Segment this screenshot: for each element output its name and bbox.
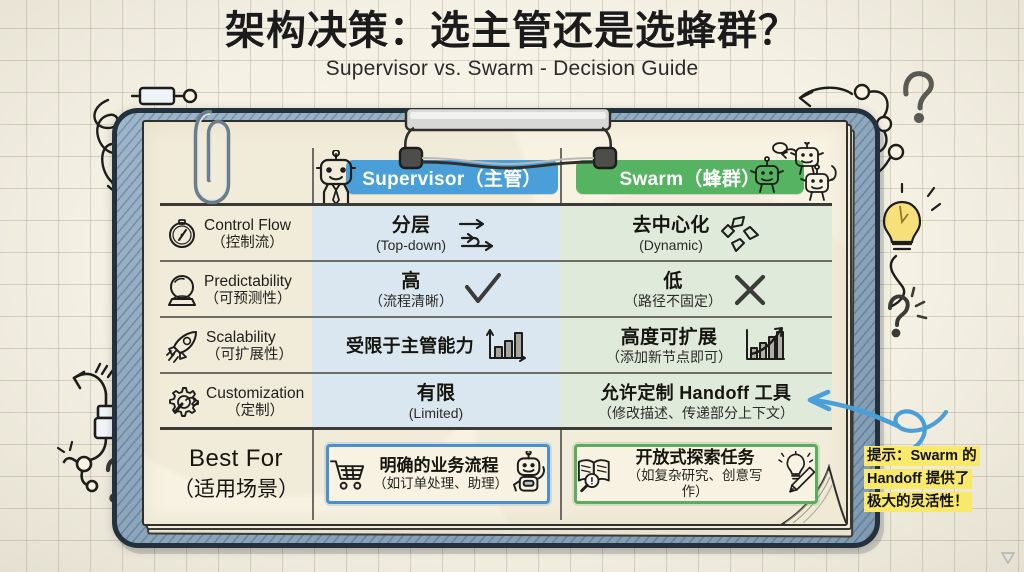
cell-value-main: 低 [624, 271, 722, 293]
row-supervisor-cell: 受限于主管能力 [312, 318, 560, 374]
cycle-arrows-icon [720, 215, 760, 253]
robot-with-tie-icon [308, 150, 364, 206]
checkmark-icon [463, 273, 503, 307]
table-row: Predictability （可预测性） 高 （流程清晰） 低 （路径不 [160, 262, 832, 318]
cell-value-sub: （添加新节点即可） [606, 349, 732, 365]
robot-swarm-icon [748, 142, 846, 204]
cell-value-sub: （路径不固定） [624, 293, 722, 309]
clipboard-clamp-icon [392, 108, 624, 170]
callout-line-3: 极大的灵活性！ [866, 494, 970, 510]
best-for-label-en: Best For [189, 445, 283, 473]
crystal-ball-icon [166, 273, 198, 307]
best-for-label-zh: （适用场景） [173, 473, 299, 503]
comparison-table: Supervisor（主管） Swarm（蜂群） [160, 148, 832, 520]
table-row: Customization （定制） 有限 (Limited) 允许定制 Han… [160, 374, 832, 430]
paperclip-icon [192, 110, 244, 206]
row-supervisor-cell: 有限 (Limited) [312, 374, 560, 430]
best-for-sub: （如订单处理、助理） [373, 476, 505, 492]
table-row: Scalability （可扩展性） 受限于主管能力 [160, 318, 832, 374]
page-subtitle: Supervisor vs. Swarm - Decision Guide [0, 57, 1024, 81]
cell-value-main: 有限 [409, 383, 463, 405]
row-label-cell: Control Flow （控制流） [160, 206, 312, 262]
title-block: 架构决策：选主管还是选蜂群？ Supervisor vs. Swarm - De… [0, 8, 1024, 81]
cell-value-main: 受限于主管能力 [346, 336, 474, 357]
row-label-zh: （控制流） [204, 235, 291, 251]
row-label-cell: Customization （定制） [160, 374, 312, 430]
callout-note: 提示：Swarm 的 Handoff 提供了 极大的灵活性！ [866, 446, 1018, 515]
best-for-swarm-cell: 开放式探索任务 （如复杂研究、创意写作） [560, 430, 832, 518]
cell-value-main: 高度可扩展 [606, 327, 732, 349]
robot-assistant-icon [512, 451, 547, 497]
gear-wrench-icon [166, 385, 200, 419]
compass-icon [166, 218, 198, 250]
cell-value-sub: (Dynamic) [632, 237, 709, 253]
table-row: Control Flow （控制流） 分层 (Top-down) [160, 206, 832, 262]
cell-value-main: 分层 [376, 215, 446, 237]
cell-value-main: 允许定制 Handoff 工具 [598, 383, 794, 404]
branching-arrows-icon [456, 216, 496, 252]
row-label-en: Customization [206, 385, 304, 402]
row-swarm-cell: 允许定制 Handoff 工具 （修改描述、传递部分上下文） [560, 374, 832, 430]
cell-value-sub: （修改描述、传递部分上下文） [598, 405, 794, 421]
cross-icon [732, 273, 768, 307]
row-swarm-cell: 低 （路径不固定） [560, 262, 832, 318]
shopping-cart-icon [329, 457, 366, 491]
row-label-zh: （定制） [206, 403, 304, 419]
best-for-main: 开放式探索任务 [619, 448, 770, 468]
row-supervisor-cell: 高 （流程清晰） [312, 262, 560, 318]
row-swarm-cell: 高度可扩展 （添加新节点即可） [560, 318, 832, 374]
cell-value-sub: (Top-down) [376, 237, 446, 253]
cell-value-sub: （流程清晰） [369, 293, 453, 309]
watermark-icon [1000, 550, 1016, 566]
rocket-icon [166, 329, 200, 363]
row-label-cell: Predictability （可预测性） [160, 262, 312, 318]
cell-value-main: 高 [369, 271, 453, 293]
best-for-label-cell: Best For （适用场景） [160, 430, 312, 518]
row-label-zh: （可扩展性） [206, 347, 293, 363]
page-title: 架构决策：选主管还是选蜂群？ [0, 8, 1024, 55]
cell-value-sub: (Limited) [409, 405, 463, 421]
callout-line-2: Handoff 提供了 [866, 471, 970, 487]
best-for-main: 明确的业务流程 [373, 456, 505, 476]
bar-chart-icon [484, 327, 526, 365]
row-supervisor-cell: 分层 (Top-down) [312, 206, 560, 262]
row-swarm-cell: 去中心化 (Dynamic) [560, 206, 832, 262]
cell-value-main: 去中心化 [632, 215, 709, 237]
row-label-en: Predictability [204, 273, 292, 290]
book-magnifier-icon [577, 455, 612, 493]
lightbulb-pen-icon [778, 451, 815, 497]
best-for-supervisor-cell: 明确的业务流程 （如订单处理、助理） [312, 430, 560, 518]
row-label-en: Scalability [206, 329, 293, 346]
growth-chart-icon [742, 326, 786, 366]
callout-line-1: 提示：Swarm 的 [866, 448, 978, 464]
table-best-for-row: Best For （适用场景） 明确的业务流程 （如订单处理、助理） [160, 430, 832, 518]
row-label-zh: （可预测性） [204, 291, 292, 307]
row-label-cell: Scalability （可扩展性） [160, 318, 312, 374]
row-label-en: Control Flow [204, 217, 291, 234]
best-for-sub: （如复杂研究、创意写作） [619, 468, 770, 499]
